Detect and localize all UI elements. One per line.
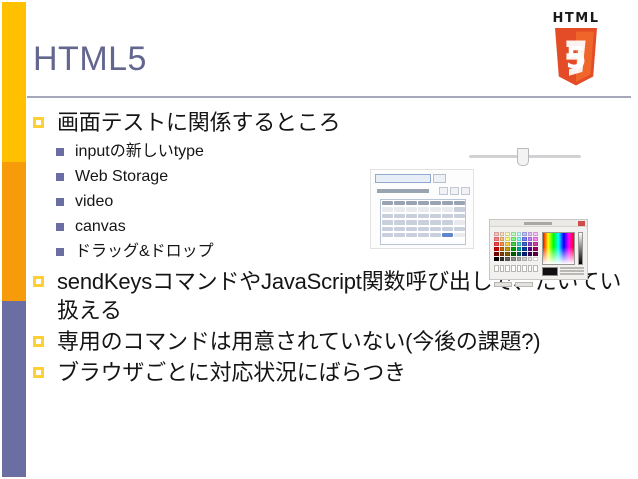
color-swatch (505, 242, 510, 246)
accent-band-middle (2, 162, 26, 301)
sub-bullet-text: Web Storage (75, 165, 168, 188)
bullet-marker-level2-icon (56, 173, 64, 181)
color-swatch (517, 242, 522, 246)
color-swatch (494, 232, 499, 236)
bullet-marker-level2-icon (56, 198, 64, 206)
color-swatch (505, 257, 510, 261)
date-picker-calendar-grid (380, 199, 466, 245)
custom-colors-palette (494, 265, 538, 272)
bullet-marker-level1-icon (33, 367, 44, 378)
bullet-marker-level1-icon (33, 276, 44, 287)
color-swatch (533, 252, 538, 256)
color-swatch (511, 232, 516, 236)
color-swatch (528, 237, 533, 241)
color-swatch (500, 237, 505, 241)
html5-logo-wordmark: HTML (548, 11, 604, 26)
color-swatch (511, 237, 516, 241)
calendar-week-row (381, 232, 465, 238)
color-preview-swatch (542, 267, 558, 276)
html5-logo-digit: 5 (566, 41, 587, 76)
color-swatch (500, 242, 505, 246)
bullet-marker-level2-icon (56, 223, 64, 231)
bullet-item: ブラウザごとに対応状況にばらつき (33, 358, 633, 387)
color-swatch (500, 257, 505, 261)
basic-colors-palette (494, 232, 538, 261)
html5-shield-icon: 5 (553, 28, 599, 86)
sub-bullet-text: ドラッグ&ドロップ (75, 240, 214, 263)
sub-bullet-text: inputの新しいtype (75, 140, 204, 163)
sub-bullet-text: video (75, 190, 113, 213)
accent-band-top (2, 2, 26, 162)
range-slider-thumb (517, 148, 529, 166)
color-dialog-title-text (524, 222, 552, 225)
color-swatch (500, 247, 505, 251)
color-swatch (494, 247, 499, 251)
color-swatch (528, 242, 533, 246)
bullet-marker-level1-icon (33, 117, 44, 128)
color-swatch (522, 232, 527, 236)
color-swatch (522, 242, 527, 246)
accent-band-bottom (2, 301, 26, 477)
html5-logo: HTML 5 (548, 11, 604, 87)
color-swatch (505, 232, 510, 236)
close-icon (578, 221, 585, 226)
color-swatch (505, 237, 510, 241)
color-swatch (522, 247, 527, 251)
color-swatch (517, 252, 522, 256)
color-value-fields (560, 267, 584, 277)
date-picker-today-button (450, 187, 459, 195)
color-swatch (522, 237, 527, 241)
page-title: HTML5 (33, 42, 147, 76)
bullet-marker-level2-icon (56, 148, 64, 156)
color-picker-screenshot (489, 219, 588, 280)
color-swatch (511, 252, 516, 256)
bullet-text: 専用のコマンドは用意されていない(今後の課題?) (57, 327, 540, 356)
bullet-marker-level1-icon (33, 336, 44, 347)
bullet-text: 画面テストに関係するところ (57, 108, 340, 137)
range-slider-screenshot (469, 148, 581, 166)
color-swatch (528, 247, 533, 251)
color-swatch (533, 257, 538, 261)
color-swatch (494, 252, 499, 256)
color-swatch (511, 247, 516, 251)
date-picker-next-button (461, 187, 470, 195)
color-swatch (494, 242, 499, 246)
slide: HTML5 HTML 5 画面テストに関係するところ inputの新しいtype… (0, 0, 638, 479)
sub-bullet-item: video (56, 190, 633, 213)
title-divider (27, 96, 631, 98)
color-swatch (528, 232, 533, 236)
bullet-text: ブラウザごとに対応状況にばらつき (57, 358, 406, 387)
color-swatch (533, 237, 538, 241)
color-swatch (528, 252, 533, 256)
color-swatch (533, 242, 538, 246)
color-swatch (505, 252, 510, 256)
luminance-slider (578, 232, 583, 265)
sub-bullet-item: Web Storage (56, 165, 633, 188)
color-swatch (511, 242, 516, 246)
color-swatch (517, 237, 522, 241)
bullet-marker-level2-icon (56, 248, 64, 256)
color-swatch (500, 232, 505, 236)
color-swatch (522, 257, 527, 261)
color-swatch (517, 232, 522, 236)
color-swatch (505, 247, 510, 251)
sub-bullet-text: canvas (75, 215, 126, 238)
date-picker-screenshot (370, 169, 474, 249)
date-picker-header (377, 187, 469, 195)
date-picker-month-label (377, 189, 429, 193)
color-swatch (494, 257, 499, 261)
color-swatch (522, 252, 527, 256)
color-swatch (533, 232, 538, 236)
date-picker-input-field (375, 174, 431, 183)
color-swatch (511, 257, 516, 261)
color-swatch (517, 247, 522, 251)
color-dialog-titlebar (490, 220, 587, 227)
bullet-item: 専用のコマンドは用意されていない(今後の課題?) (33, 327, 633, 356)
date-picker-spinner-icon (433, 174, 446, 183)
color-swatch (494, 237, 499, 241)
color-spectrum-field (542, 232, 575, 265)
bullet-item: 画面テストに関係するところ (33, 108, 633, 137)
date-picker-prev-button (439, 187, 448, 195)
color-swatch (533, 247, 538, 251)
color-dialog-buttons (494, 274, 538, 279)
color-swatch (500, 252, 505, 256)
color-swatch (517, 257, 522, 261)
color-swatch (528, 257, 533, 261)
